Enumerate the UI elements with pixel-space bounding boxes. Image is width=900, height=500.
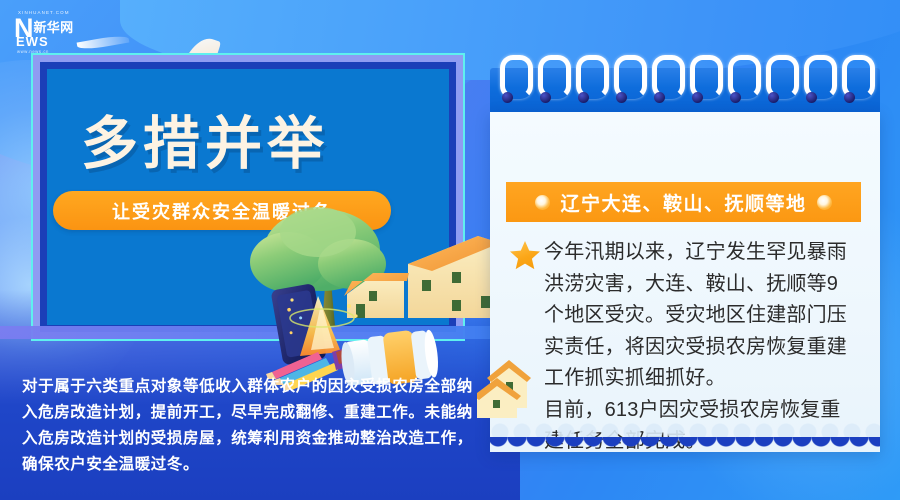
subtitle-badge: 让受灾群众安全温暖过冬 xyxy=(53,191,391,230)
logo-chinese-name: 新华网 xyxy=(34,21,74,35)
spiral-ring-icon xyxy=(614,55,647,99)
page-title: 多措并举 xyxy=(81,98,329,180)
spiral-ring-icon xyxy=(804,55,837,99)
bottom-paragraph: 对于属于六类重点对象等低收入群体农户的因灾受损农房全部纳入危房改造计划，提前开工… xyxy=(22,374,484,478)
notepad-panel: 辽宁大连、鞍山、抚顺等地 今年汛期以来，辽宁发生罕见暴雨洪涝灾害，大连、鞍山、抚… xyxy=(490,55,880,465)
spiral-ring-icon xyxy=(728,55,761,99)
subtitle-text: 让受灾群众安全温暖过冬 xyxy=(112,198,332,224)
xinhua-logo: XINHUANET.COM N 新华网 EWS www.news.cn xyxy=(14,10,134,56)
spiral-ring-icon xyxy=(842,55,875,99)
spiral-ring-icon xyxy=(690,55,723,99)
notepad-scalloped-edge xyxy=(490,437,880,453)
headline-card-inner: 多措并举 让受灾群众安全温暖过冬 xyxy=(40,62,456,332)
logo-top-text: XINHUANET.COM xyxy=(18,10,134,15)
edge-house-illustration xyxy=(477,354,537,428)
notepad-paragraph-1: 今年汛期以来，辽宁发生罕见暴雨洪涝灾害，大连、鞍山、抚顺等9个地区受灾。受灾地区… xyxy=(544,237,856,395)
spiral-ring-icon xyxy=(538,55,571,99)
spiral-ring-icon xyxy=(576,55,609,99)
spiral-ring-icon xyxy=(500,55,533,99)
spiral-ring-icon xyxy=(652,55,685,99)
infographic-canvas: XINHUANET.COM N 新华网 EWS www.news.cn 多措并举… xyxy=(0,0,900,500)
headline-card: 多措并举 让受灾群众安全温暖过冬 xyxy=(31,53,465,341)
notepad-spiral-rings xyxy=(490,55,880,101)
glow-dot-right-icon xyxy=(817,195,832,210)
star-bullet-icon xyxy=(510,241,540,270)
glow-dot-left-icon xyxy=(535,195,550,210)
notepad-body: 辽宁大连、鞍山、抚顺等地 今年汛期以来，辽宁发生罕见暴雨洪涝灾害，大连、鞍山、抚… xyxy=(490,112,880,452)
region-banner-text: 辽宁大连、鞍山、抚顺等地 xyxy=(560,189,806,216)
logo-news-text: EWS xyxy=(16,34,49,49)
spiral-ring-icon xyxy=(766,55,799,99)
region-banner: 辽宁大连、鞍山、抚顺等地 xyxy=(506,182,861,222)
